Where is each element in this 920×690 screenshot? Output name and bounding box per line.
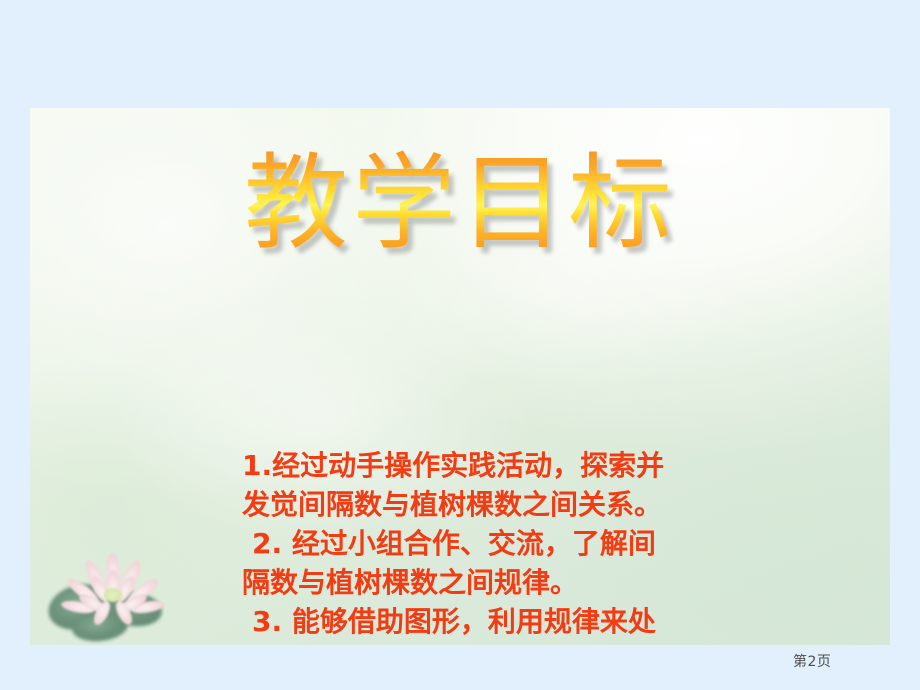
body-line: 2. 经过小组合作、交流，了解间 <box>242 524 742 563</box>
page-number: 第2页 <box>793 653 831 671</box>
lotus-flower-icon <box>38 551 188 645</box>
lotus-center <box>104 588 122 602</box>
slide-canvas: 教学目标 1.经过动手操作实践活动，探索并 发觉间隔数与植树棵数之间关系。 2.… <box>30 108 890 645</box>
slide-body: 1.经过动手操作实践活动，探索并 发觉间隔数与植树棵数之间关系。 2. 经过小组… <box>242 446 742 645</box>
body-line: 1.经过动手操作实践活动，探索并 <box>242 446 742 485</box>
slide-title: 教学目标 <box>30 148 890 258</box>
body-line: 隔数与植树棵数之间规律。 <box>242 563 742 602</box>
body-line: 理简单植树问题。 <box>242 641 742 645</box>
body-line: 3. 能够借助图形，利用规律来处 <box>242 602 742 641</box>
body-line: 发觉间隔数与植树棵数之间关系。 <box>242 485 742 524</box>
slide-viewer: 教学目标 1.经过动手操作实践活动，探索并 发觉间隔数与植树棵数之间关系。 2.… <box>0 0 920 690</box>
slide-title-text: 教学目标 <box>244 148 676 258</box>
